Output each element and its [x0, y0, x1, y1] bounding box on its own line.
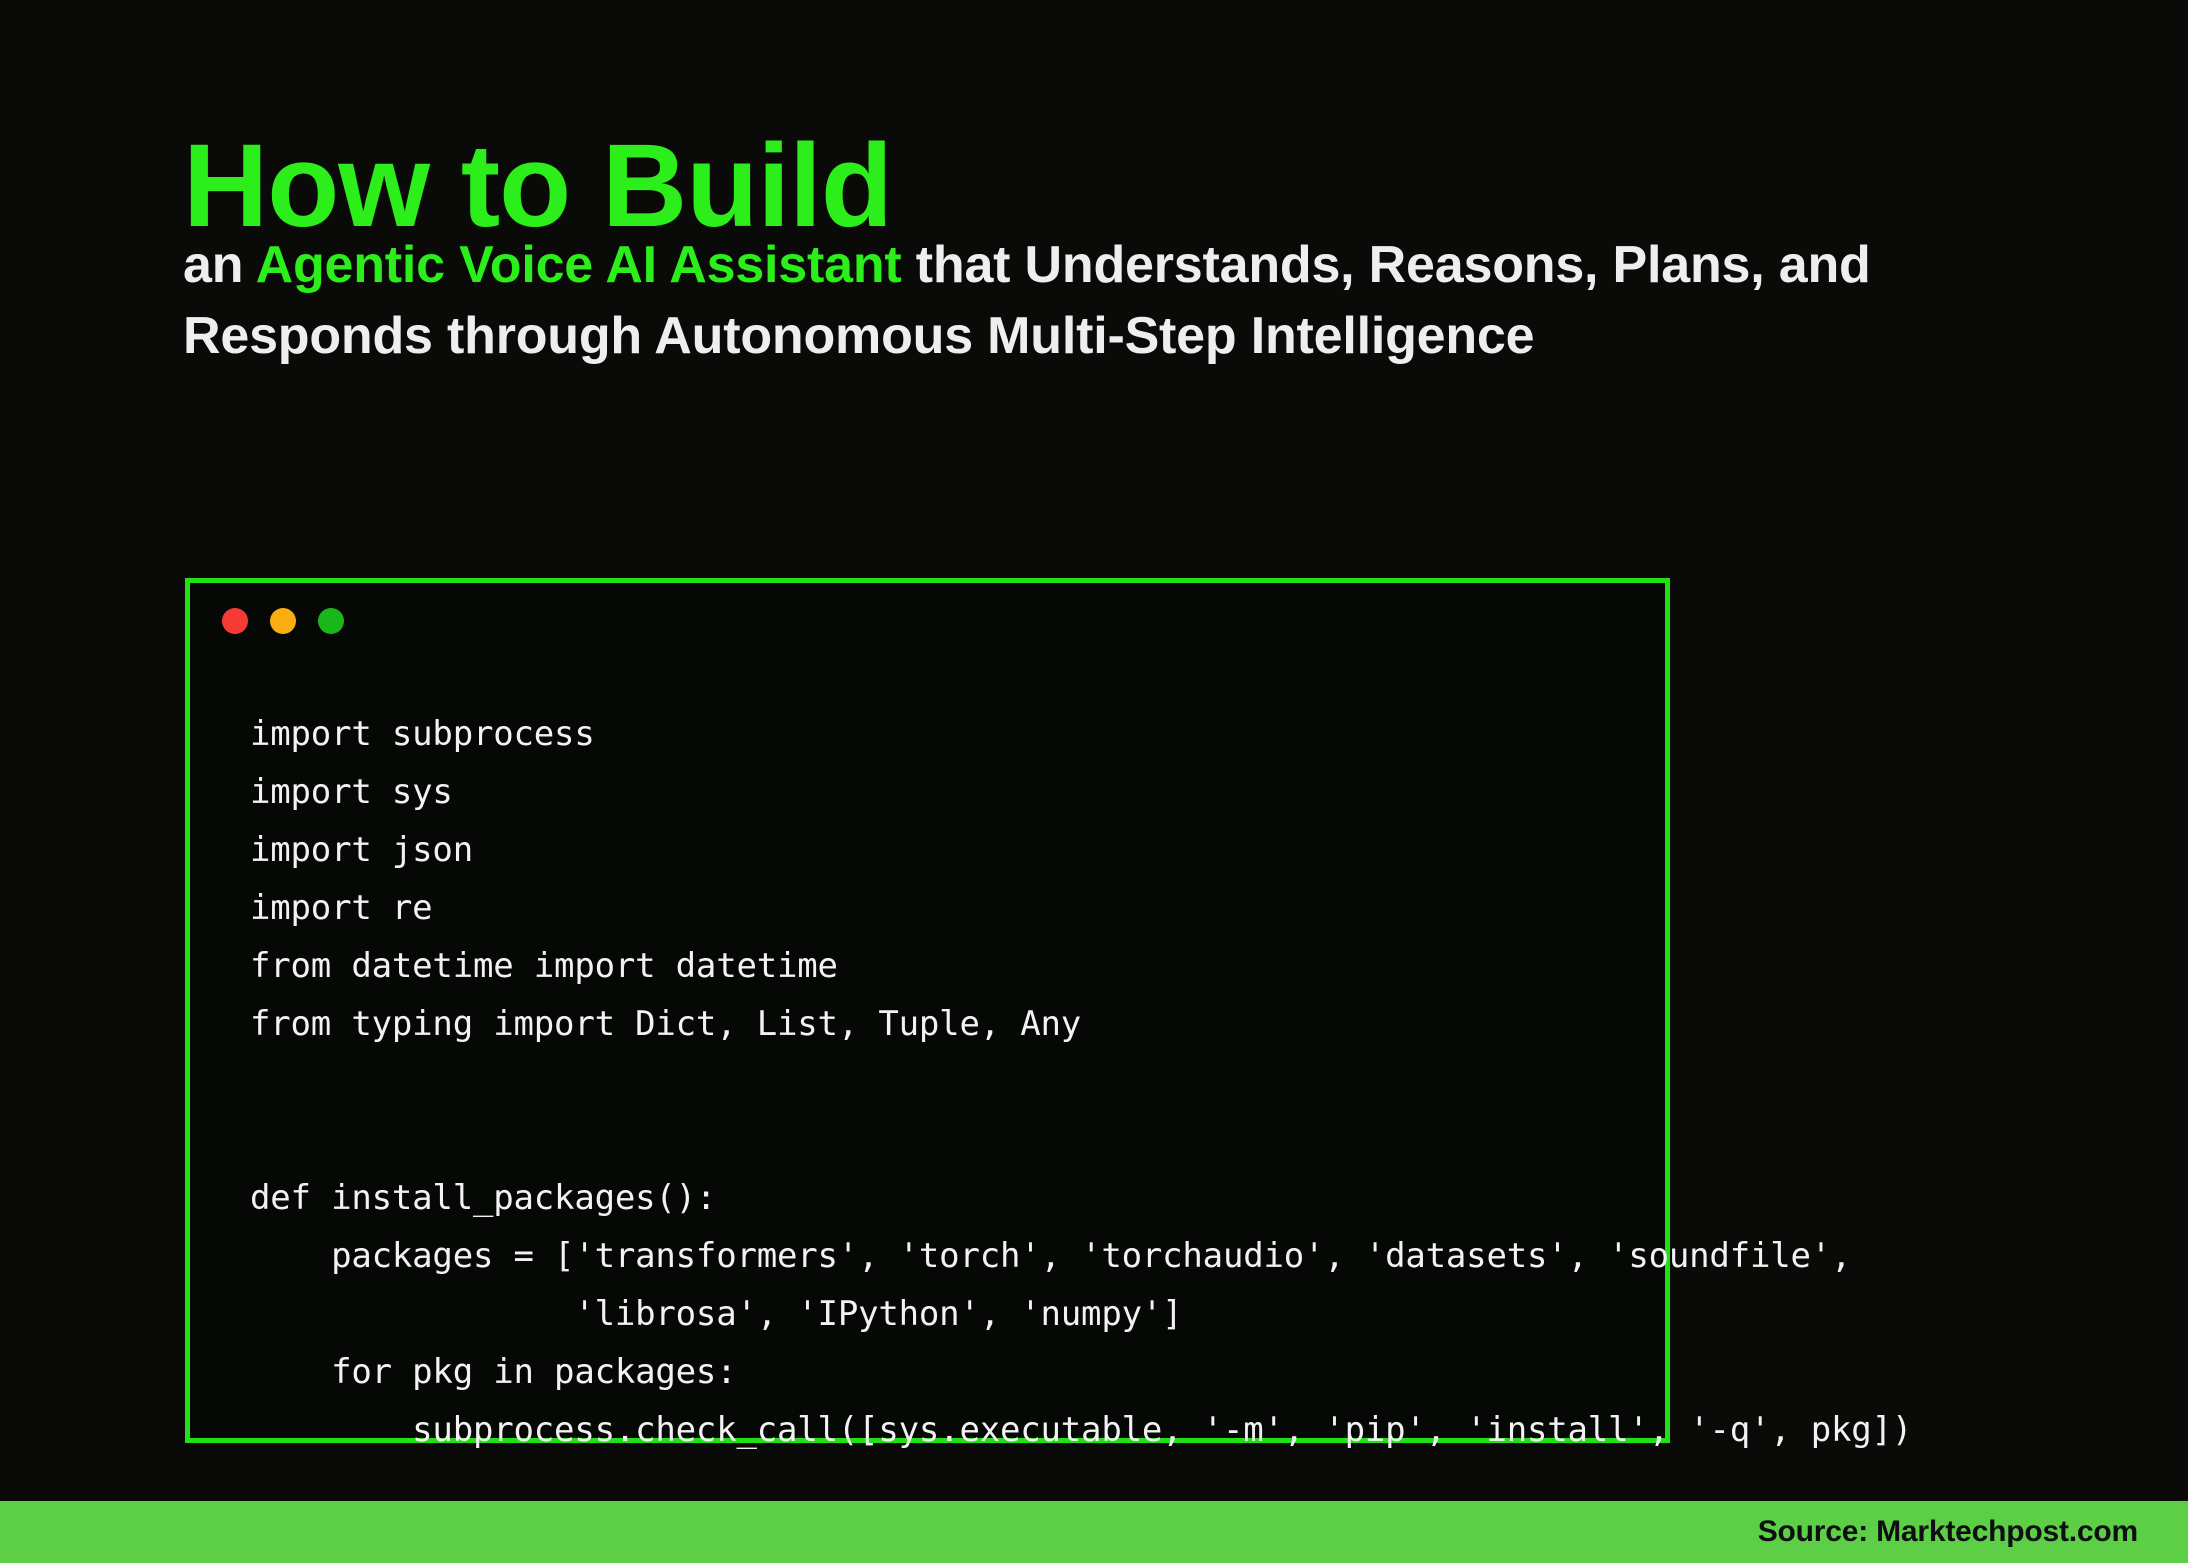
subtitle-lead: an	[183, 236, 256, 294]
code-line: import re	[250, 888, 432, 928]
code-line-blank	[250, 1062, 270, 1102]
code-line: from datetime import datetime	[250, 946, 838, 986]
code-line: def install_packages():	[250, 1178, 716, 1218]
code-window: import subprocess import sys import json…	[185, 578, 1670, 1443]
code-line: packages = ['transformers', 'torch', 'to…	[250, 1236, 1851, 1276]
code-line: for pkg in packages:	[250, 1352, 736, 1392]
code-line-blank	[250, 1120, 270, 1160]
code-line: import json	[250, 830, 473, 870]
poster-canvas: How to Build an Agentic Voice AI Assista…	[0, 0, 2188, 1563]
code-line: subprocess.check_call([sys.executable, '…	[250, 1410, 1912, 1450]
code-line: from typing import Dict, List, Tuple, An…	[250, 1004, 1081, 1044]
minimize-icon[interactable]	[270, 608, 296, 634]
code-line: import sys	[250, 772, 453, 812]
code-line: import subprocess	[250, 714, 595, 754]
code-line: 'librosa', 'IPython', 'numpy']	[250, 1294, 1182, 1334]
page-subtitle: an Agentic Voice AI Assistant that Under…	[183, 230, 2103, 371]
close-icon[interactable]	[222, 608, 248, 634]
page-title: How to Build	[183, 127, 892, 245]
code-block: import subprocess import sys import json…	[250, 705, 1645, 1459]
source-label: Source: Marktechpost.com	[1758, 1515, 2138, 1549]
maximize-icon[interactable]	[318, 608, 344, 634]
subtitle-highlight: Agentic Voice AI Assistant	[256, 236, 902, 294]
window-controls	[222, 608, 344, 634]
footer-bar: Source: Marktechpost.com	[0, 1501, 2188, 1563]
